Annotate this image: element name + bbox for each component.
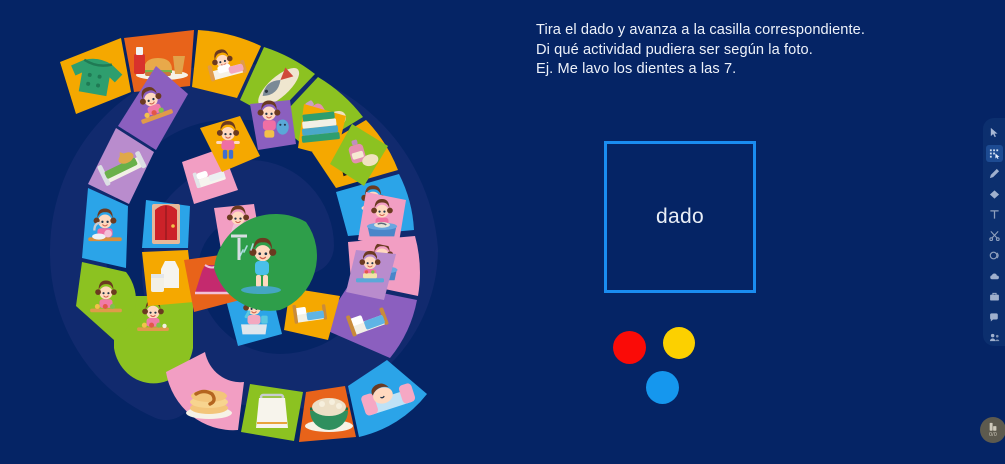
board-tile-26[interactable] [358,192,406,248]
chart-icon [988,422,999,432]
pen-icon[interactable] [986,165,1003,182]
instructions-line-3: Ej. Me lavo los dientes a las 7. [536,60,936,80]
eraser-icon[interactable] [986,186,1003,203]
yellow-token[interactable] [663,327,695,359]
comment-icon[interactable] [986,309,1003,326]
cursor-icon[interactable] [986,124,1003,141]
board-tile-20[interactable] [142,200,190,248]
spiral-game-board[interactable] [18,0,538,464]
select-area-icon[interactable] [986,145,1003,162]
board-tile-23[interactable] [250,100,296,150]
people-icon[interactable] [986,329,1003,346]
right-toolbar[interactable] [983,118,1005,346]
blue-token[interactable] [646,371,679,404]
shapes-icon[interactable] [986,247,1003,264]
red-token[interactable] [613,331,646,364]
dado-box[interactable]: dado [604,141,756,293]
scissors-icon[interactable] [986,227,1003,244]
board-tile-3[interactable] [241,384,303,441]
dado-label: dado [607,205,753,229]
instructions-line-2: Di qué actividad pudiera ser según la fo… [536,41,936,61]
instructions-line-1: Tira el dado y avanza a la casilla corre… [536,21,936,41]
status-badge-count: 0/0 [989,433,997,438]
instructions-text: Tira el dado y avanza a la casilla corre… [536,21,936,80]
cloud-icon[interactable] [986,268,1003,285]
screen-canvas: Tira el dado y avanza a la casilla corre… [0,0,1005,464]
board-tile-19[interactable] [142,250,194,306]
status-badge[interactable]: 0/0 [980,417,1005,443]
briefcase-icon[interactable] [986,288,1003,305]
text-icon[interactable] [986,206,1003,223]
